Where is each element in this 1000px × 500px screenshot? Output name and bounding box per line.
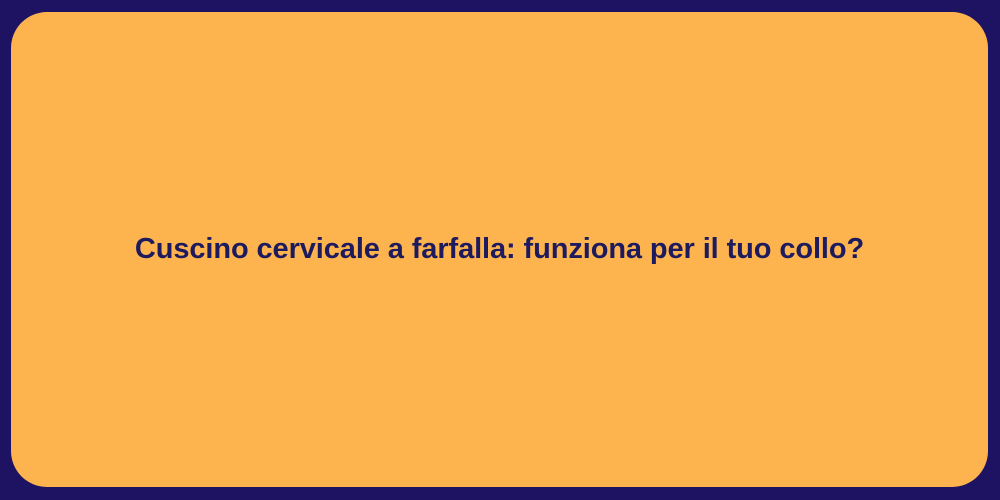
headline-card: Cuscino cervicale a farfalla: funziona p… xyxy=(11,12,988,487)
page-title: Cuscino cervicale a farfalla: funziona p… xyxy=(95,231,904,267)
page-canvas: Cuscino cervicale a farfalla: funziona p… xyxy=(0,0,1000,500)
